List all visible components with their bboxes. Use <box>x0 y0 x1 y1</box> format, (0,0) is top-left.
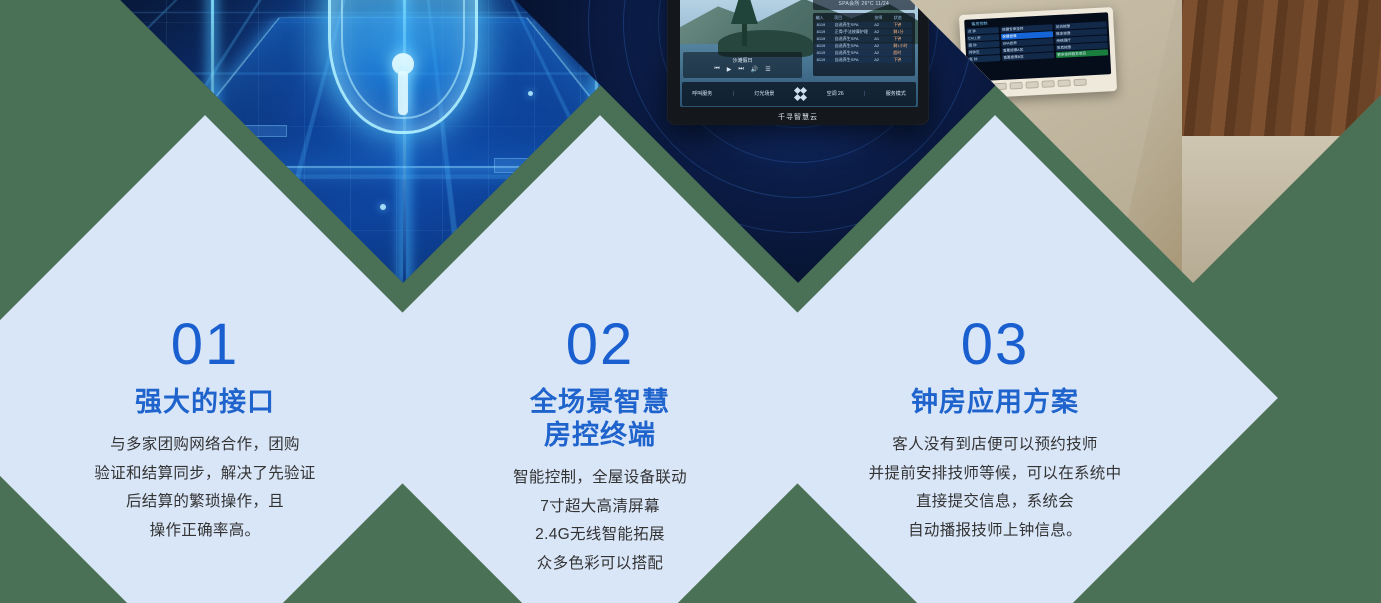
cell-item: 自选养生SPA <box>835 57 871 63</box>
list-header-cell: 技师 <box>874 15 890 21</box>
card-body-line: 与多家团购网络合作，团购 <box>60 431 350 460</box>
dock-item-service[interactable]: 服务模式 <box>886 90 906 97</box>
floor <box>1182 136 1381 283</box>
card-title: 全场景智慧 房控终端 <box>530 386 670 452</box>
plant-leaf-icon <box>1367 171 1381 215</box>
next-icon[interactable]: ⏭ <box>738 66 743 73</box>
panel-lists[interactable]: 保健专享技师 保健按摩 SPA技师 香薰按摩A区 香薰按摩B区 足浴按摩 推拿按… <box>1001 22 1109 78</box>
card-body-line: 客人没有到店便可以预约技师 <box>850 431 1140 460</box>
table-row[interactable]: 8119 正骨/手法按摩护理 A2 剩1分 <box>816 29 912 35</box>
card-body-line: 并提前安排技师等候，可以在系统中 <box>850 460 1140 489</box>
cell-tech: A2 <box>874 50 890 56</box>
list-icon[interactable]: ☰ <box>765 66 770 73</box>
card-number: 02 <box>566 316 635 374</box>
volume-icon[interactable]: 🔊 <box>751 66 758 73</box>
plant-leaf-icon <box>1272 248 1330 276</box>
card-title-line: 钟房应用方案 <box>911 386 1079 419</box>
dock-item-call[interactable]: 呼叫服务 <box>692 90 712 97</box>
cell-item: 自选养生SPA <box>835 22 871 28</box>
panel-body: 点 钟 CALL房 圈 钟 排钟区 直 钟 保健专享技师 保健按摩 SPA技师 <box>967 22 1109 80</box>
cell-tech: A2 <box>874 57 890 63</box>
cell-tech: A2 <box>874 22 890 28</box>
scenery-tree <box>742 0 747 46</box>
card-body-line: 7寸超大高清屏幕 <box>455 493 745 522</box>
cell-code: 8119 <box>817 29 832 35</box>
card-body: 与多家团购网络合作，团购 验证和结算同步，解决了先验证 后结算的繁琐操作，且 操… <box>60 431 350 546</box>
card-body-line: 直接提交信息，系统会 <box>850 488 1140 517</box>
cell-code: 8119 <box>817 50 832 56</box>
card-body: 智能控制，全屋设备联动 7寸超大高清屏幕 2.4G无线智能拓展 众多色彩可以搭配 <box>455 464 745 579</box>
card-title: 钟房应用方案 <box>911 386 1079 419</box>
table-row[interactable]: 8119 自选养生SPA A2 剩1小时 <box>816 43 912 49</box>
table-row[interactable]: 8119 自选养生SPA A2 下钟 <box>816 22 912 28</box>
divider: | <box>733 91 734 97</box>
card-title-line: 强大的接口 <box>135 386 275 419</box>
feature-card-03-content: 03 钟房应用方案 客人没有到店便可以预约技师 并提前安排技师等候，可以在系统中… <box>795 198 1195 598</box>
card-number: 03 <box>961 316 1030 374</box>
cell-item: 正骨/手法按摩护理 <box>835 29 871 35</box>
cell-code: 8119 <box>817 36 832 42</box>
panel-list-item-highlight[interactable]: 更多技师服务项目 <box>1056 50 1108 59</box>
card-body-line: 2.4G无线智能拓展 <box>455 521 745 550</box>
cell-status: 下钟 <box>893 36 911 42</box>
cell-status: 超时 <box>893 50 911 56</box>
card-body-line: 自动播报技师上钟信息。 <box>850 517 1140 546</box>
chip-icon <box>494 158 546 173</box>
chip-icon <box>245 125 287 137</box>
cell-code: 8119 <box>817 57 832 63</box>
keyhole-lock-icon <box>392 53 414 75</box>
apps-grid-icon[interactable] <box>795 88 807 100</box>
panel-column-a[interactable]: 保健专享技师 保健按摩 SPA技师 香薰按摩A区 香薰按摩B区 <box>1001 25 1056 79</box>
card-title: 强大的接口 <box>135 386 275 419</box>
card-body-line: 众多色彩可以搭配 <box>455 550 745 579</box>
dock-item-ac[interactable]: 空调 26 <box>827 90 844 97</box>
dock-item-light[interactable]: 灯光场景 <box>754 90 774 97</box>
card-body-line: 后结算的繁琐操作，且 <box>60 488 350 517</box>
card-title-line: 全场景智慧 <box>530 386 670 419</box>
play-icon[interactable]: ▶ <box>727 66 732 73</box>
now-playing-bar[interactable]: 沙滩假日 ⏮ ▶ ⏭ 🔊 ☰ <box>683 52 802 78</box>
cell-tech: A1 <box>874 36 890 42</box>
cell-status: 剩1小时 <box>893 43 911 49</box>
panel-button[interactable] <box>1025 81 1038 89</box>
cell-item: 自选养生SPA <box>835 43 871 49</box>
panel-column-b[interactable]: 足浴按摩 推拿按摩 经络理疗 采耳按摩 更多技师服务项目 <box>1055 22 1110 76</box>
list-header-cell: 项目 <box>834 15 871 21</box>
wood-partition <box>1182 0 1381 147</box>
tablet-screen[interactable]: 22:35 SPA会所 26°C 11/24 编入 项目 技师 状态 8119 <box>680 0 918 107</box>
cell-code: 8119 <box>817 22 832 28</box>
table-row[interactable]: 8119 自选养生SPA A2 超时 <box>816 50 912 56</box>
list-header-cell: 状态 <box>894 15 912 21</box>
panel-menu-item[interactable]: 直 钟 <box>968 55 1000 63</box>
plant-leaf-icon <box>1313 213 1381 259</box>
feature-diamond-grid: CSIZBO 22:35 SPA会所 26°C 11/24 编入 项 <box>0 0 1381 603</box>
clock-subtitle: SPA会所 26°C 11/24 <box>839 0 890 7</box>
panel-button[interactable] <box>1041 81 1054 89</box>
dock-bar[interactable]: 呼叫服务 | 灯光场景 空调 26 | 服务模式 <box>682 82 916 105</box>
cell-status: 剩1分 <box>893 29 911 35</box>
card-body: 客人没有到店便可以预约技师 并提前安排技师等候，可以在系统中 直接提交信息，系统… <box>850 431 1140 546</box>
panel-screen[interactable]: 客房控制 点 钟 CALL房 圈 钟 排钟区 直 钟 保健专享技师 <box>964 13 1111 82</box>
cell-status: 下钟 <box>893 22 911 28</box>
cell-item: 自选养生SPA <box>835 36 871 42</box>
card-body-line: 操作正确率高。 <box>60 517 350 546</box>
cell-status: 下钟 <box>893 57 911 63</box>
divider: | <box>864 91 865 97</box>
table-row[interactable]: 8119 自选养生SPA A2 下钟 <box>816 57 912 63</box>
card-title-line: 房控终端 <box>530 419 670 452</box>
device-brand-bottom: 千寻智慧云 <box>778 112 818 122</box>
room-control-tablet[interactable]: CSIZBO 22:35 SPA会所 26°C 11/24 编入 项 <box>668 0 928 124</box>
cell-tech: A2 <box>874 43 890 49</box>
panel-list-item[interactable]: 香薰按摩B区 <box>1002 52 1054 61</box>
cell-tech: A2 <box>874 29 890 35</box>
cell-item: 自选养生SPA <box>835 50 871 56</box>
list-header-cell: 编入 <box>816 15 831 21</box>
card-number: 01 <box>171 316 240 374</box>
card-body-line: 验证和结算同步，解决了先验证 <box>60 460 350 489</box>
panel-button[interactable] <box>1073 79 1086 87</box>
technician-list[interactable]: 编入 项目 技师 状态 8119 自选养生SPA A2 下钟 8119 <box>813 13 915 76</box>
panel-button[interactable] <box>1009 82 1022 90</box>
panel-button[interactable] <box>1057 80 1070 88</box>
clock-widget: 22:35 SPA会所 26°C 11/24 <box>813 0 915 10</box>
now-playing-label: 沙滩假日 <box>732 57 752 64</box>
prev-icon[interactable]: ⏮ <box>714 66 719 73</box>
player-controls[interactable]: ⏮ ▶ ⏭ 🔊 ☰ <box>714 66 770 73</box>
cell-code: 8119 <box>817 43 832 49</box>
panel-button[interactable] <box>993 83 1006 91</box>
list-header: 编入 项目 技师 状态 <box>816 15 912 21</box>
node-dot-icon <box>528 91 533 96</box>
card-body-line: 智能控制，全屋设备联动 <box>455 464 745 493</box>
table-row[interactable]: 8119 自选养生SPA A1 下钟 <box>816 36 912 42</box>
